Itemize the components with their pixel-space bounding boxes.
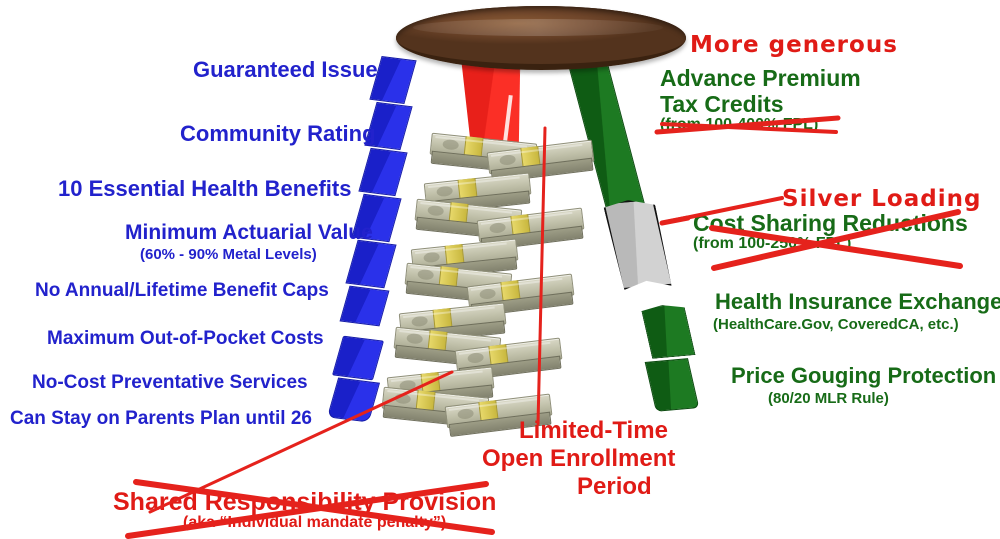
label-no-cost-preventative: No-Cost Preventative Services [32, 373, 308, 393]
blue-leg-segment-5 [345, 240, 396, 289]
label-advance-premium-tax-credits-line2: Tax Credits [660, 92, 784, 116]
annotation-silver-loading: Silver Loading [782, 187, 981, 211]
label-open-enrollment-line1: Limited-Time [519, 418, 668, 443]
label-shared-responsibility-provision: Shared Responsibility Provision [113, 489, 496, 515]
label-essential-health-benefits: 10 Essential Health Benefits [58, 177, 351, 200]
label-advance-premium-tax-credits-line1: Advance Premium [660, 66, 861, 90]
infographic-canvas: Guaranteed Issue Community Rating 10 Ess… [0, 0, 1000, 539]
label-health-insurance-exchanges-sub: (HealthCare.Gov, CoveredCA, etc.) [713, 317, 959, 333]
label-max-out-of-pocket: Maximum Out-of-Pocket Costs [47, 329, 324, 349]
label-community-rating: Community Rating [180, 122, 376, 145]
label-minimum-actuarial-value-sub: (60% - 90% Metal Levels) [140, 247, 317, 263]
green-leg-upper [566, 53, 646, 211]
leader-silver-loading-arrow [662, 218, 688, 223]
silver-loading-block [602, 198, 673, 290]
label-cost-sharing-reductions: Cost Sharing Reductions [693, 211, 968, 235]
label-minimum-actuarial-value: Minimum Actuarial Value [125, 222, 373, 244]
label-open-enrollment-line2: Open Enrollment [482, 446, 675, 471]
label-price-gouging-protection-sub: (80/20 MLR Rule) [768, 391, 889, 407]
label-parents-plan-26: Can Stay on Parents Plan until 26 [10, 409, 312, 429]
label-no-benefit-caps: No Annual/Lifetime Benefit Caps [35, 281, 329, 301]
label-health-insurance-exchanges: Health Insurance Exchanges [715, 290, 1000, 313]
blue-leg-segment-8 [327, 378, 380, 423]
stool-seat [396, 6, 686, 70]
label-advance-premium-tax-credits-sub: (from 100-400% FPL) [660, 117, 818, 134]
blue-leg-segment-6 [340, 286, 390, 327]
label-cost-sharing-reductions-sub: (from 100-250% FPL) [693, 236, 851, 253]
green-leg-lower-2 [645, 358, 700, 412]
blue-leg-segment-3 [358, 148, 407, 196]
label-open-enrollment-line3: Period [577, 474, 652, 499]
green-leg-lower-1 [640, 303, 695, 359]
label-guaranteed-issue: Guaranteed Issue [193, 58, 378, 81]
label-shared-responsibility-provision-sub: (aka “Individual mandate penalty”) [183, 515, 446, 532]
label-price-gouging-protection: Price Gouging Protection [731, 364, 996, 387]
blue-leg-segment-7 [332, 336, 384, 381]
annotation-more-generous: More generous [690, 33, 898, 57]
